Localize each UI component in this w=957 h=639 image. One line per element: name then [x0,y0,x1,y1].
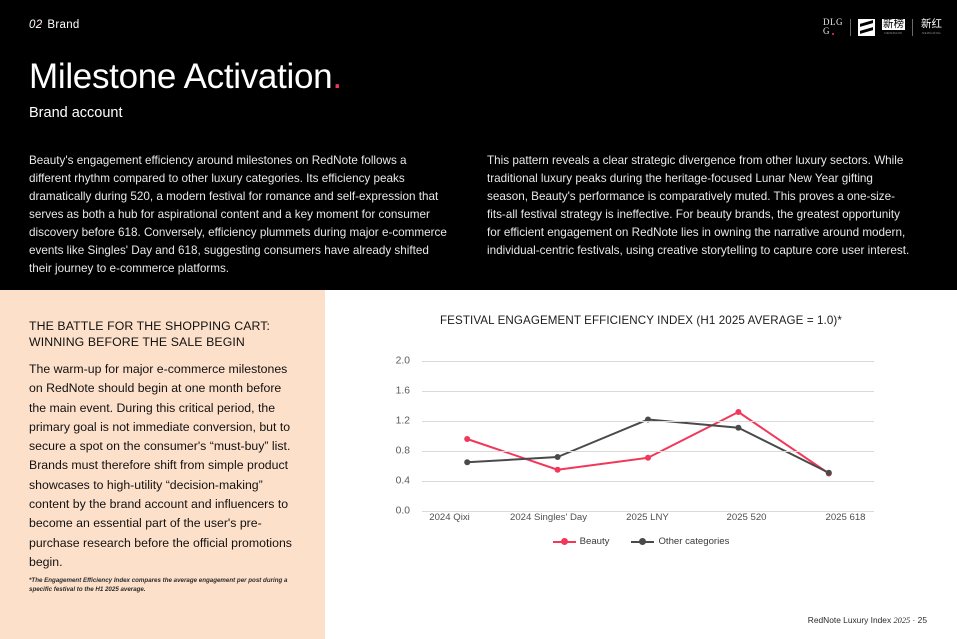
section-label: Brand [47,19,79,31]
brand-mark-icon [858,19,875,36]
xinhong-logo-cn: 新红 [920,19,943,30]
chart-legend-label: Other categories [658,536,729,547]
page-title: Milestone Activation. [29,57,342,97]
slide: 02.Brand DLG G 新榜 NEWRANK 新红 NEWHONG Mil… [0,0,957,639]
body-paragraph-left: Beauty's engagement efficiency around mi… [29,152,447,278]
body-paragraph-right: This pattern reveals a clear strategic d… [487,152,912,260]
chart-legend-label: Beauty [580,536,610,547]
xinbang-logo-cn: 新榜 [882,19,905,30]
chart-data-point [645,455,651,461]
chart-x-axis-labels: 2024 Qixi2024 Singles' Day2025 LNY2025 5… [400,512,895,523]
page-subtitle: Brand account [29,105,123,121]
chart-x-tick-label: 2025 520 [697,512,796,523]
logo-divider-2 [912,19,913,36]
chart-legend: BeautyOther categories [325,536,957,547]
chart-legend-swatch-icon [553,541,576,543]
top-bar: 02.Brand DLG G 新榜 NEWRANK 新红 NEWHONG [0,0,957,52]
dlg-logo-line2: G [823,27,830,36]
chart-data-point [464,436,470,442]
chart-data-point [464,459,470,465]
xinbang-logo: 新榜 NEWRANK [882,19,905,35]
chart-series-line [467,420,829,473]
chart-data-point [735,425,741,431]
chart-title: FESTIVAL ENGAGEMENT EFFICIENCY INDEX (H1… [325,314,957,327]
callout-body: The warm-up for major e-commerce milesto… [29,360,301,572]
page-title-period: . [332,57,341,96]
chart-data-point [826,470,832,476]
section-number-dot: . [39,16,45,22]
footer-year: 2025 [893,616,910,625]
xinhong-logo-sub: NEWHONG [922,32,941,35]
chart-legend-item[interactable]: Other categories [631,536,729,547]
xinhong-logo: 新红 NEWHONG [920,19,943,35]
chart-gridline [422,451,874,452]
chart-svg [422,361,874,511]
chart-y-tick-label: 0.4 [396,476,410,487]
dlg-logo: DLG G [823,18,843,35]
chart-y-tick-label: 2.0 [396,356,410,367]
footer-text: RedNote Luxury Index [808,615,891,625]
footer-page: 25 [918,615,927,625]
chart-y-tick-label: 1.2 [396,416,410,427]
dlg-logo-dot-icon [832,33,834,35]
chart-gridline [422,421,874,422]
chart-panel: FESTIVAL ENGAGEMENT EFFICIENCY INDEX (H1… [325,290,957,639]
logo-divider-1 [850,19,851,36]
chart-legend-swatch-icon [631,541,654,543]
chart-gridline [422,481,874,482]
chart-data-point [555,467,561,473]
chart-plot-area: 0.00.40.81.21.62.0 [422,361,874,511]
page-title-text: Milestone Activation [29,57,332,96]
chart-gridline [422,391,874,392]
section-kicker: 02.Brand [29,19,80,31]
footer-separator: · [913,615,916,625]
chart-y-tick-label: 1.6 [396,386,410,397]
callout-heading: THE BATTLE FOR THE SHOPPING CART: WINNIN… [29,318,297,350]
chart-data-point [555,454,561,460]
chart-x-tick-label: 2024 Qixi [400,512,499,523]
chart-gridline [422,361,874,362]
logo-group: DLG G 新榜 NEWRANK 新红 NEWHONG [823,14,943,40]
xinbang-logo-sub: NEWRANK [884,32,902,35]
chart-legend-item[interactable]: Beauty [553,536,610,547]
chart-x-tick-label: 2024 Singles' Day [499,512,598,523]
callout-footnote: *The Engagement Efficiency Index compare… [29,576,309,594]
chart-x-tick-label: 2025 618 [796,512,895,523]
chart-y-tick-label: 0.8 [396,446,410,457]
chart-data-point [735,409,741,415]
footer: RedNote Luxury Index 2025 · 25 [808,615,927,625]
chart-x-tick-label: 2025 LNY [598,512,697,523]
